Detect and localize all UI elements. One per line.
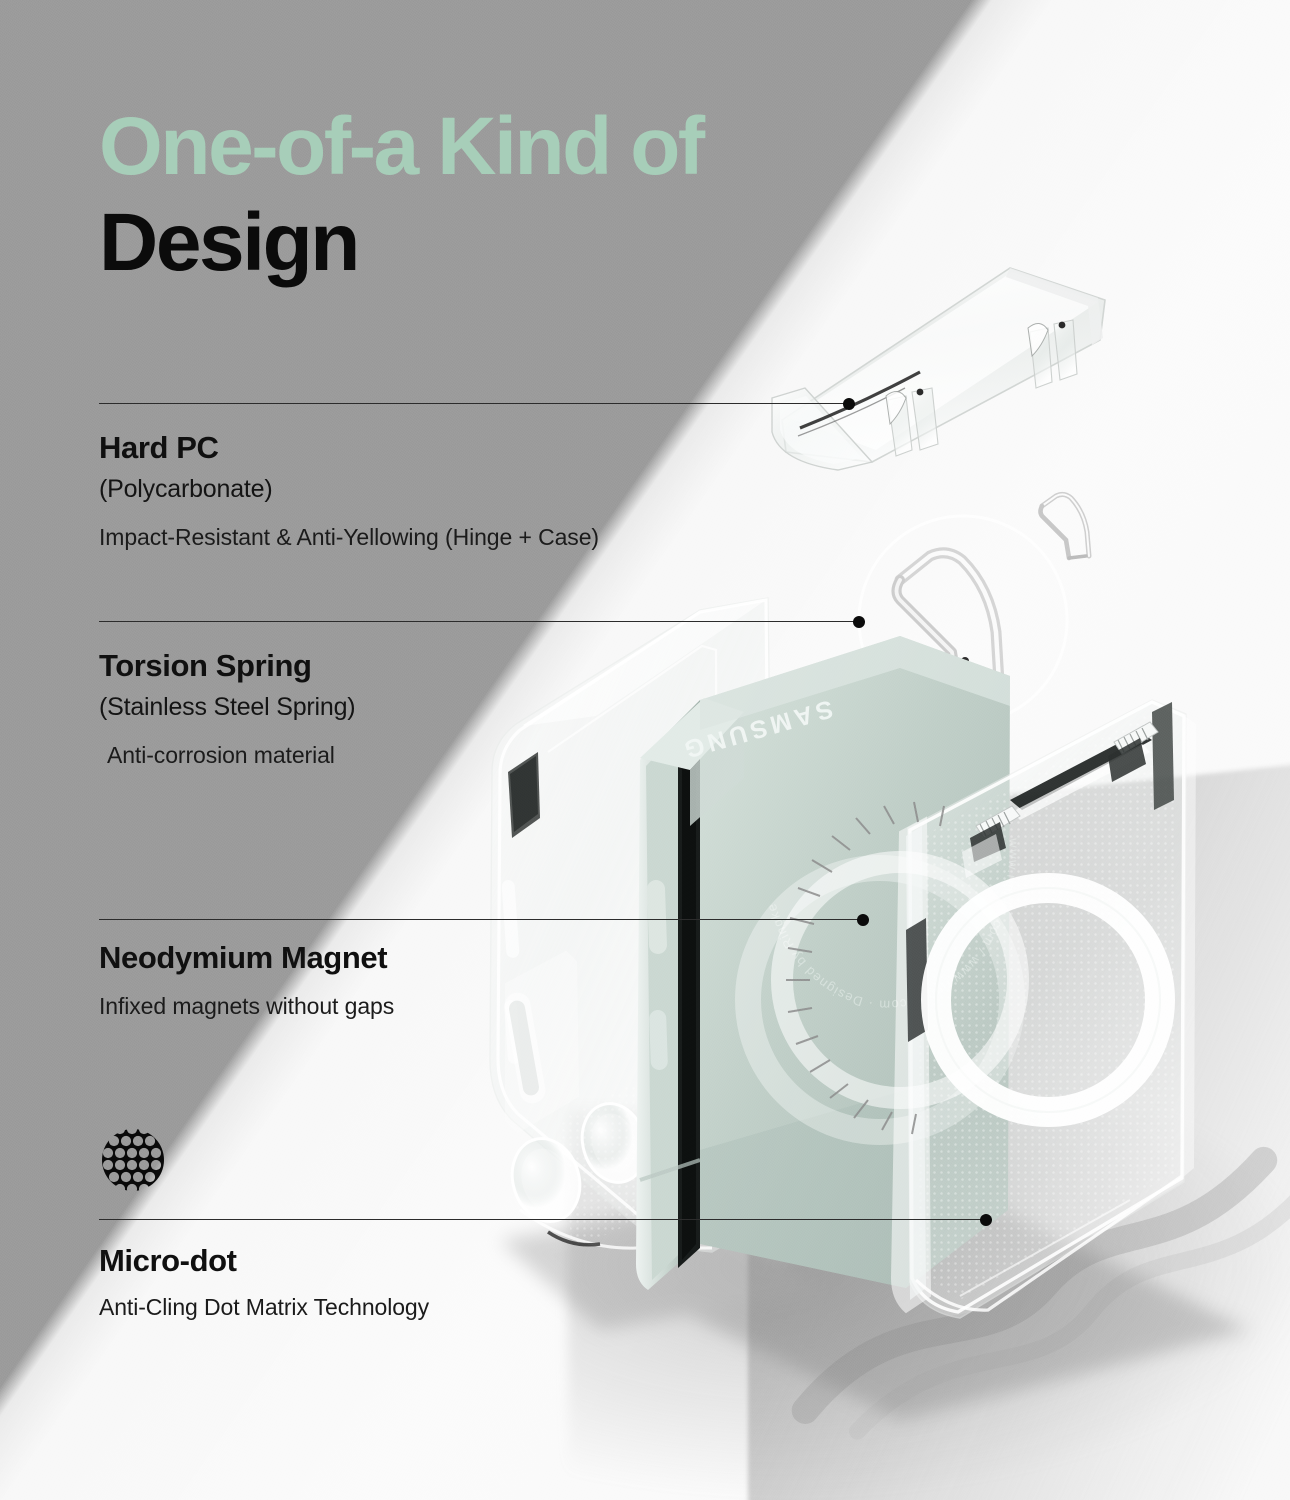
spec-subtitle-torsion-spring: (Stainless Steel Spring) — [99, 692, 355, 723]
spec-title-micro-dot: Micro-dot — [99, 1243, 429, 1280]
spec-description-hard-pc: Impact-Resistant & Anti-Yellowing (Hinge… — [99, 522, 599, 552]
infographic-stage: SAMSUNG www.ringke.com / www.ringke.com … — [0, 0, 1290, 1500]
title-line-main: Design — [99, 202, 703, 284]
spec-block-micro-dot: Micro-dot Anti-Cling Dot Matrix Technolo… — [99, 1243, 429, 1322]
micro-dot-matrix-icon — [99, 1126, 167, 1194]
leader-line-neodymium-magnet — [99, 919, 863, 920]
spec-title-hard-pc: Hard PC — [99, 430, 599, 467]
leader-line-torsion-spring — [99, 621, 859, 622]
leader-dot-neodymium-magnet — [857, 914, 869, 926]
leader-line-micro-dot — [99, 1219, 986, 1220]
leader-dot-torsion-spring — [853, 616, 865, 628]
spec-subtitle-hard-pc: (Polycarbonate) — [99, 474, 599, 505]
spec-block-torsion-spring: Torsion Spring (Stainless Steel Spring) … — [99, 648, 355, 770]
spec-title-neodymium-magnet: Neodymium Magnet — [99, 940, 399, 977]
page-title: One-of-a Kind of Design — [99, 106, 703, 284]
spec-description-neodymium-magnet: Infixed magnets without gaps — [99, 991, 399, 1021]
floor-squiggle-shadow — [774, 1080, 1290, 1470]
spec-block-hard-pc: Hard PC (Polycarbonate) Impact-Resistant… — [99, 430, 599, 552]
spec-description-micro-dot: Anti-Cling Dot Matrix Technology — [99, 1292, 429, 1322]
spec-block-neodymium-magnet: Neodymium Magnet Infixed magnets without… — [99, 940, 399, 1021]
leader-dot-micro-dot — [980, 1214, 992, 1226]
title-line-accent: One-of-a Kind of — [99, 106, 703, 188]
spec-description-torsion-spring: Anti-corrosion material — [107, 740, 355, 770]
leader-dot-hard-pc — [843, 398, 855, 410]
spec-title-torsion-spring: Torsion Spring — [99, 648, 355, 685]
leader-line-hard-pc — [99, 403, 849, 404]
